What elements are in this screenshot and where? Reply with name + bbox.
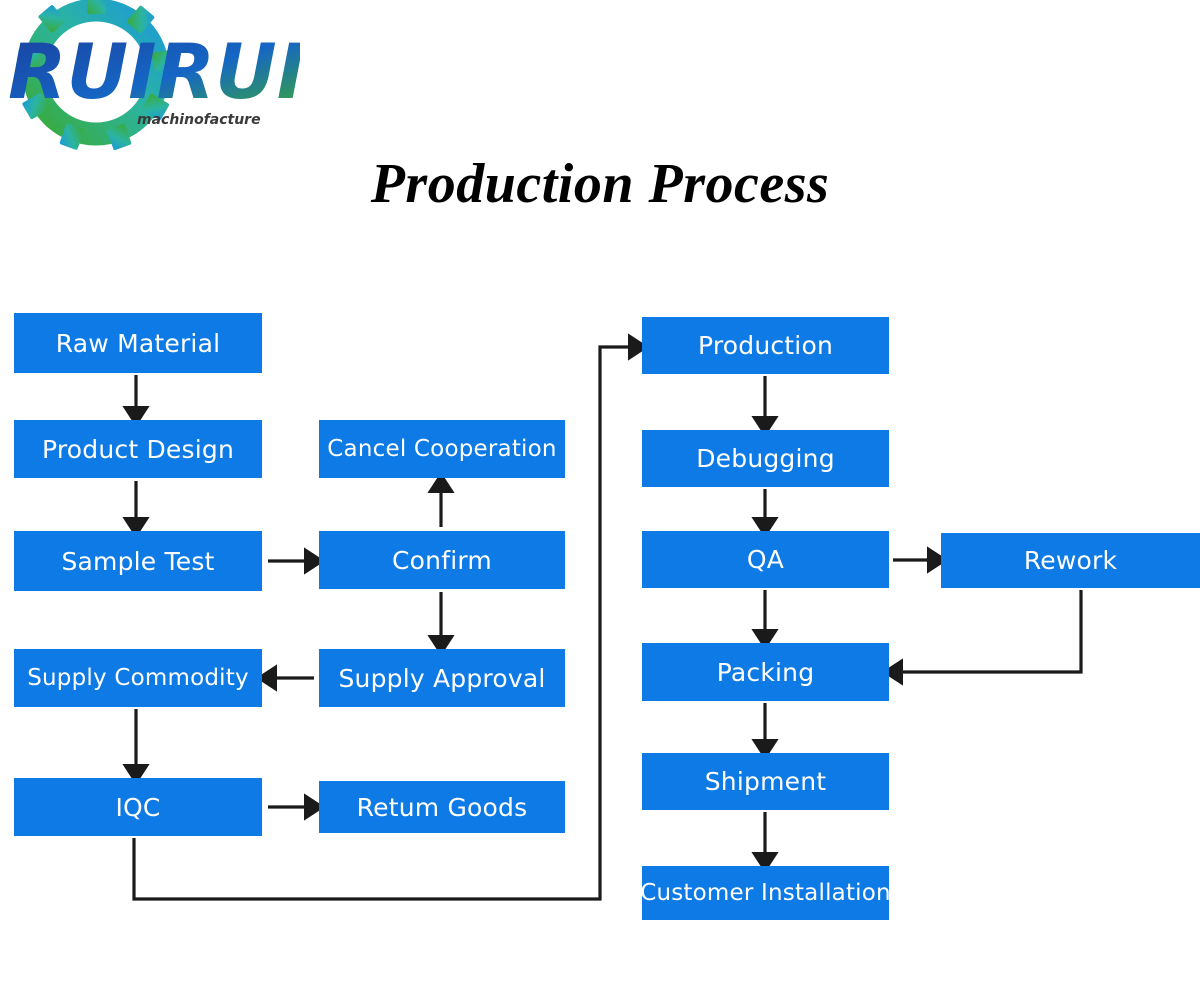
node-iqc[interactable]: IQC xyxy=(14,778,262,836)
node-customer-installation[interactable]: Customer Installation xyxy=(642,866,889,920)
node-product-design[interactable]: Product Design xyxy=(14,420,262,478)
node-supply-approval[interactable]: Supply Approval xyxy=(319,649,565,707)
flowchart: Raw Material Product Design Sample Test … xyxy=(0,0,1200,1000)
node-return-goods[interactable]: Retum Goods xyxy=(319,781,565,833)
node-supply-commodity[interactable]: Supply Commodity xyxy=(14,649,262,707)
node-rework[interactable]: Rework xyxy=(941,533,1200,588)
node-confirm[interactable]: Confirm xyxy=(319,531,565,589)
node-debugging[interactable]: Debugging xyxy=(642,430,889,487)
node-qa[interactable]: QA xyxy=(642,531,889,588)
node-shipment[interactable]: Shipment xyxy=(642,753,889,810)
edge-rework-to-packing xyxy=(893,590,1081,672)
node-sample-test[interactable]: Sample Test xyxy=(14,531,262,591)
node-cancel-cooperation[interactable]: Cancel Cooperation xyxy=(319,420,565,478)
node-packing[interactable]: Packing xyxy=(642,643,889,701)
flowchart-connectors xyxy=(0,0,1200,1000)
node-raw-material[interactable]: Raw Material xyxy=(14,313,262,373)
node-production[interactable]: Production xyxy=(642,317,889,374)
